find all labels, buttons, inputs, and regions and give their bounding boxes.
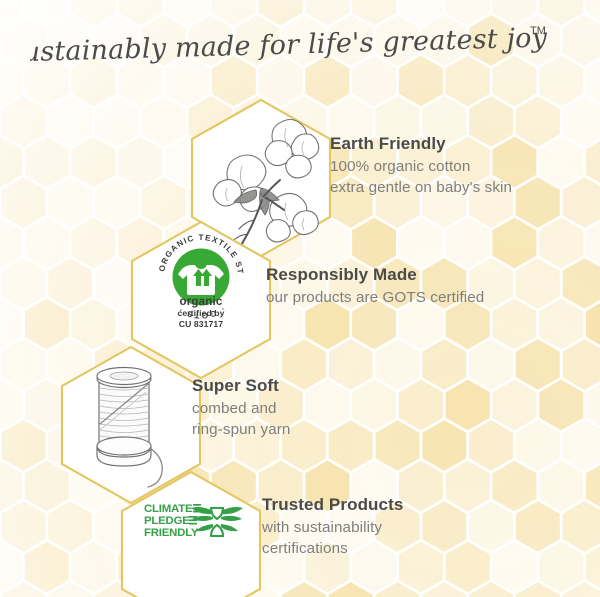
feature-line: our products are GOTS certified: [266, 287, 484, 308]
svg-text:sustainably made for life's gr: sustainably made for life's greatest joy: [30, 22, 548, 68]
feature-title: Earth Friendly: [330, 134, 512, 155]
svg-text:CLIMATE: CLIMATE: [144, 503, 193, 515]
svg-text:PLEDGE: PLEDGE: [144, 515, 190, 527]
svg-text:FRIENDLY: FRIENDLY: [144, 527, 199, 539]
text-block-earth-friendly: Earth Friendly 100% organic cotton extra…: [330, 134, 512, 198]
feature-line: ring-spun yarn: [192, 419, 290, 440]
feature-line: 100% organic cotton: [330, 156, 512, 177]
feature-line: with sustainability: [262, 517, 403, 538]
feature-line: combed and: [192, 398, 290, 419]
gots-text-stack: organic certified by CU 831717: [141, 293, 261, 330]
feature-title: Responsibly Made: [266, 265, 484, 286]
infographic-canvas: sustainably made for life's greatest joy…: [0, 0, 600, 597]
feature-line: certifications: [262, 538, 403, 559]
gots-cert-number: CU 831717: [141, 319, 261, 330]
svg-text:TM: TM: [530, 25, 546, 37]
gots-certified-by: certified by: [141, 308, 261, 319]
text-block-responsibly-made: Responsibly Made our products are GOTS c…: [266, 265, 484, 308]
text-block-trusted-products: Trusted Products with sustainability cer…: [262, 495, 403, 559]
headline: sustainably made for life's greatest joy…: [0, 18, 600, 70]
feature-title: Super Soft: [192, 376, 290, 397]
climate-pledge-friendly-icon: CLIMATE PLEDGE FRIENDLY: [143, 500, 253, 546]
text-block-super-soft: Super Soft combed and ring-spun yarn: [192, 376, 290, 440]
feature-line: extra gentle on baby's skin: [330, 177, 512, 198]
gots-organic-label: organic: [141, 296, 261, 308]
feature-title: Trusted Products: [262, 495, 403, 516]
